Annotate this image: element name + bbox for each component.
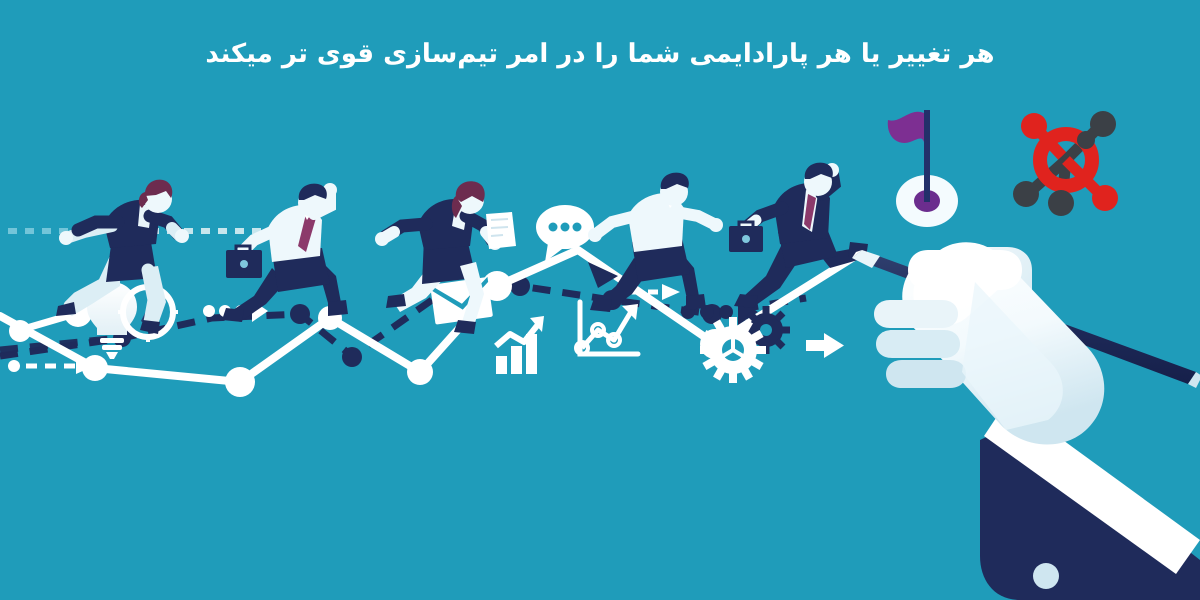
illustration-banner: هر تغییر یا هر پارادایمی شما را در امر ت… [0, 0, 1200, 600]
document-icon [486, 212, 516, 249]
illustration-canvas [0, 0, 1200, 600]
chart-node [407, 359, 433, 385]
page-title: هر تغییر یا هر پارادایمی شما را در امر ت… [0, 38, 1200, 71]
briefcase-icon [226, 246, 262, 278]
briefcase-icon-2 [729, 222, 763, 252]
envelope-icon [430, 277, 493, 325]
chart-node [225, 367, 255, 397]
